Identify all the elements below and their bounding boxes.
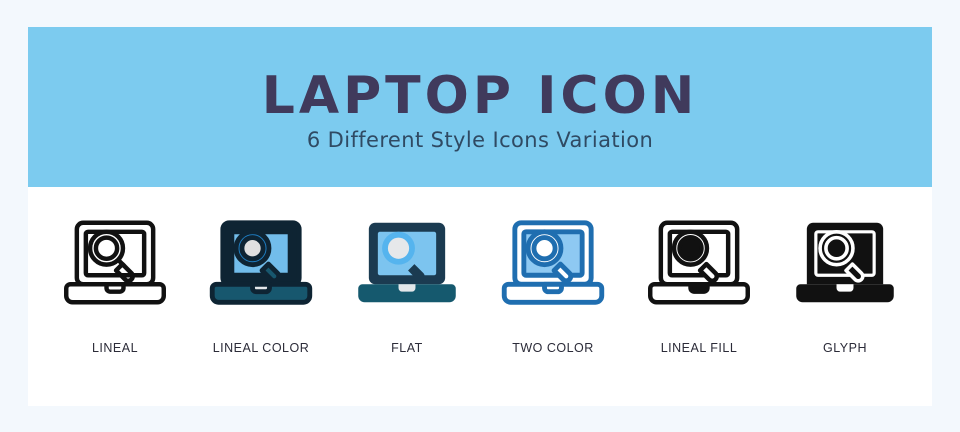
icon-cell-glyph[interactable]: GLYPH	[774, 209, 916, 355]
header-banner: LAPTOP ICON 6 Different Style Icons Vari…	[28, 27, 932, 187]
icon-grid: LINEAL LINEAL COLOR	[28, 187, 932, 406]
icon-label: TWO COLOR	[512, 341, 594, 355]
icon-label: FLAT	[391, 341, 423, 355]
laptop-search-lineal-color-icon	[208, 209, 314, 315]
icon-label: LINEAL	[92, 341, 138, 355]
laptop-search-lineal-icon	[62, 209, 168, 315]
page-title: LAPTOP ICON	[262, 70, 699, 122]
icon-cell-two-color[interactable]: TWO COLOR	[482, 209, 624, 355]
icon-set-card: LAPTOP ICON 6 Different Style Icons Vari…	[28, 27, 932, 406]
page-subtitle: 6 Different Style Icons Variation	[307, 130, 653, 151]
laptop-search-lineal-fill-icon	[646, 209, 752, 315]
icon-cell-lineal-fill[interactable]: LINEAL FILL	[628, 209, 770, 355]
icon-cell-lineal[interactable]: LINEAL	[44, 209, 186, 355]
icon-label: LINEAL FILL	[661, 341, 738, 355]
laptop-search-glyph-icon	[792, 209, 898, 315]
poster-page: LAPTOP ICON 6 Different Style Icons Vari…	[0, 0, 960, 432]
laptop-search-two-color-icon	[500, 209, 606, 315]
icon-label: LINEAL COLOR	[213, 341, 310, 355]
icon-cell-lineal-color[interactable]: LINEAL COLOR	[190, 209, 332, 355]
laptop-search-flat-icon	[354, 209, 460, 315]
icon-cell-flat[interactable]: FLAT	[336, 209, 478, 355]
icon-label: GLYPH	[823, 341, 867, 355]
